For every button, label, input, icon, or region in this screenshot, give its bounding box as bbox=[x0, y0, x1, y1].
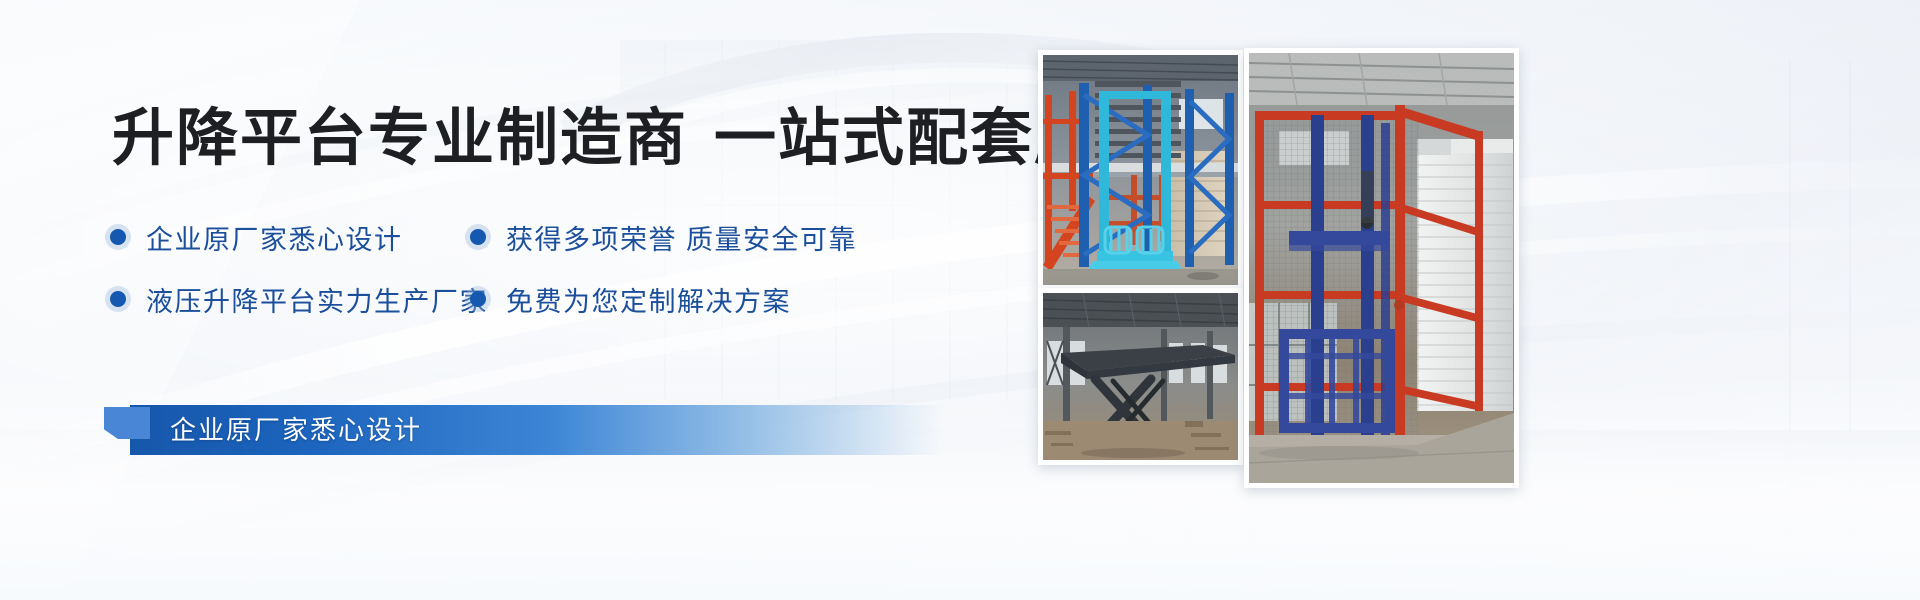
bullet-label: 免费为您定制解决方案 bbox=[506, 280, 791, 319]
photo-guiderail[interactable]: 红蓝导轨式链条升降货梯与卷帘门 bbox=[1244, 48, 1519, 488]
bullet-item-manufacturer: 液压升降平台实力生产厂家 bbox=[110, 280, 470, 319]
ribbon-label: 企业原厂家悉心设计 bbox=[170, 405, 422, 455]
bullet-label: 企业原厂家悉心设计 bbox=[146, 218, 403, 257]
bullet-label: 获得多项荣誉 质量安全可靠 bbox=[506, 218, 857, 257]
bullet-item-honors: 获得多项荣誉 质量安全可靠 bbox=[470, 218, 857, 257]
bullet-row: 液压升降平台实力生产厂家 免费为您定制解决方案 bbox=[110, 268, 990, 330]
feature-bullet-list: 企业原厂家悉心设计 获得多项荣誉 质量安全可靠 液压升降平台实力生产厂家 免费为… bbox=[110, 206, 990, 330]
photo-scissor[interactable]: 车间内大型剪叉式升降平台 bbox=[1038, 288, 1243, 465]
product-photo-collage: 蓝色液压升降货梯与仓库阁楼货架 bbox=[1038, 50, 1798, 470]
bullet-dot-icon bbox=[470, 229, 486, 245]
bullet-item-free-solution: 免费为您定制解决方案 bbox=[470, 280, 791, 319]
bullet-dot-icon bbox=[470, 291, 486, 307]
ribbon-tab-shape bbox=[104, 407, 150, 439]
bullet-item-design: 企业原厂家悉心设计 bbox=[110, 218, 470, 257]
banner-content: 升降平台专业制造商一站式配套服务 企业原厂家悉心设计 获得多项荣誉 质量安全可靠… bbox=[0, 0, 1030, 600]
photo-scissor-art bbox=[1043, 293, 1238, 460]
promo-banner: 升降平台专业制造商一站式配套服务 企业原厂家悉心设计 获得多项荣誉 质量安全可靠… bbox=[0, 0, 1920, 600]
photo-guiderail-art bbox=[1249, 53, 1514, 483]
headline-part-1: 升降平台专业制造商 bbox=[112, 104, 688, 173]
photo-mezzanine-art bbox=[1043, 55, 1238, 285]
bullet-dot-icon bbox=[110, 229, 126, 245]
bullet-row: 企业原厂家悉心设计 获得多项荣誉 质量安全可靠 bbox=[110, 206, 990, 268]
headline: 升降平台专业制造商一站式配套服务 bbox=[112, 104, 1162, 173]
bullet-dot-icon bbox=[110, 291, 126, 307]
photo-mezzanine[interactable]: 蓝色液压升降货梯与仓库阁楼货架 bbox=[1038, 50, 1243, 290]
bullet-label: 液压升降平台实力生产厂家 bbox=[146, 280, 488, 319]
highlight-ribbon: 企业原厂家悉心设计 bbox=[104, 405, 944, 455]
